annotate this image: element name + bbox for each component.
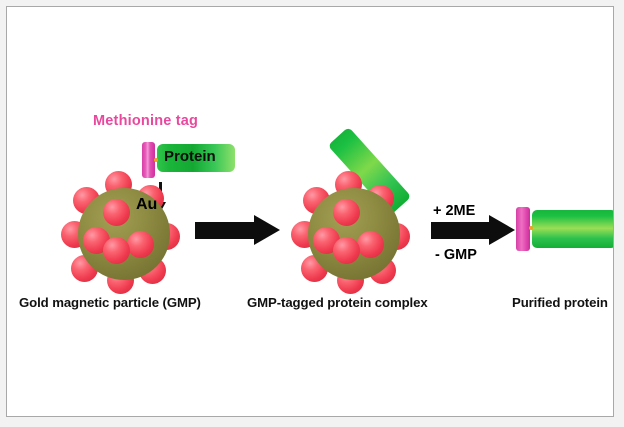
caption-gmp-tagged-complex: GMP-tagged protein complex bbox=[247, 295, 428, 310]
caption-gold-magnetic-particle: Gold magnetic particle (GMP) bbox=[19, 295, 201, 310]
au-nanoparticle bbox=[103, 199, 130, 226]
linker-dot-icon bbox=[154, 158, 158, 162]
transform-arrow-2-head bbox=[489, 215, 515, 245]
methionine-tag-label: Methionine tag bbox=[93, 113, 198, 129]
protein-box-label: Protein bbox=[164, 148, 216, 165]
linker-dot-icon bbox=[529, 226, 533, 230]
au-label: Au bbox=[136, 196, 157, 214]
gold-magnetic-particle bbox=[65, 175, 183, 293]
protein-rod bbox=[532, 210, 614, 248]
protein-box bbox=[157, 144, 235, 172]
au-nanoparticle bbox=[127, 231, 154, 258]
au-nanoparticle bbox=[333, 199, 360, 226]
methionine-tag-block bbox=[516, 207, 530, 251]
au-nanoparticle bbox=[103, 237, 130, 264]
reaction-condition-below: - GMP bbox=[435, 247, 477, 263]
au-nanoparticle bbox=[333, 237, 360, 264]
figure-canvas: Methionine tag Protein Au bbox=[6, 6, 614, 417]
caption-purified-protein: Purified protein bbox=[512, 295, 608, 310]
reaction-condition-above: + 2ME bbox=[433, 203, 475, 219]
au-nanoparticle bbox=[357, 231, 384, 258]
transform-arrow-1-head bbox=[254, 215, 280, 245]
transform-arrow-1-shaft bbox=[195, 222, 258, 239]
transform-arrow-2-shaft bbox=[431, 222, 493, 239]
methionine-tag-block bbox=[142, 142, 155, 178]
